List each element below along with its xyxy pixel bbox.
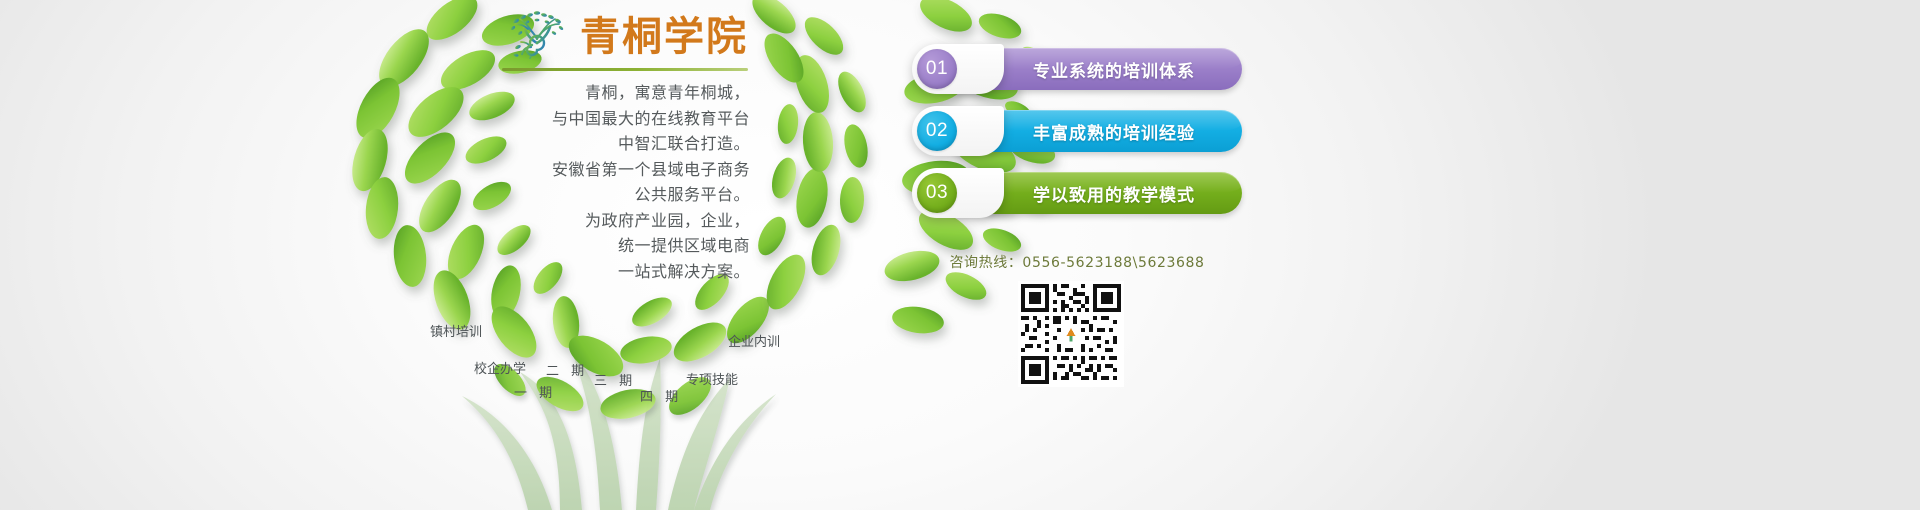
intro-line: 与中国最大的在线教育平台 (430, 106, 750, 132)
feature-item-03[interactable]: 学以致用的教学模式 03 (912, 168, 1242, 218)
feature-label: 丰富成熟的培训经验 (1000, 110, 1228, 152)
feature-item-02[interactable]: 丰富成熟的培训经验 02 (912, 106, 1242, 156)
category-label-zhencun: 镇村培训 (430, 321, 482, 340)
feature-number-badge: 02 (912, 106, 1004, 156)
intro-line: 安徽省第一个县域电子商务 (430, 157, 750, 183)
intro-line: 公共服务平台。 (430, 182, 750, 208)
feature-label: 学以致用的教学模式 (1000, 172, 1228, 214)
feature-number-badge: 01 (912, 44, 1004, 94)
intro-line: 为政府产业园，企业， (430, 208, 750, 234)
hotline-text: 咨询热线：0556-5623188\5623688 (912, 252, 1242, 272)
phase-label-3: 三 期 (594, 370, 636, 389)
feature-number: 01 (917, 49, 957, 89)
brand-name: 青桐学院 (580, 17, 748, 57)
intro-line: 一站式解决方案。 (430, 259, 750, 285)
qr-code-icon[interactable] (1018, 281, 1124, 387)
intro-line: 中智汇联合打造。 (430, 131, 750, 157)
feature-list: 专业系统的培训体系 01 丰富成熟的培训经验 02 学以致用的教学模式 03 (912, 44, 1242, 230)
intro-line: 统一提供区域电商 (430, 233, 750, 259)
feature-number-badge: 03 (912, 168, 1004, 218)
category-label-qiye: 企业内训 (728, 331, 780, 350)
feature-label: 专业系统的培训体系 (1000, 48, 1228, 90)
feature-number: 02 (917, 111, 957, 151)
feature-number: 03 (917, 173, 957, 213)
feature-item-01[interactable]: 专业系统的培训体系 01 (912, 44, 1242, 94)
phase-label-4: 四 期 (640, 386, 682, 405)
intro-paragraph: 青桐，寓意青年桐城， 与中国最大的在线教育平台 中智汇联合打造。 安徽省第一个县… (430, 80, 750, 284)
phase-label-1: 一 期 (514, 382, 556, 401)
brand-logo: 青桐学院 (500, 8, 750, 80)
logo-divider (502, 68, 748, 71)
category-label-zhuanxiang: 专项技能 (686, 369, 738, 388)
banner-stage: 青桐学院 青桐，寓意青年桐城， 与中国最大的在线教育平台 中智汇联合打造。 安徽… (0, 0, 1920, 510)
tree-icon (500, 9, 574, 65)
intro-line: 青桐，寓意青年桐城， (430, 80, 750, 106)
phase-label-2: 二 期 (546, 360, 588, 379)
category-label-xiaoqi: 校企办学 (474, 358, 526, 377)
